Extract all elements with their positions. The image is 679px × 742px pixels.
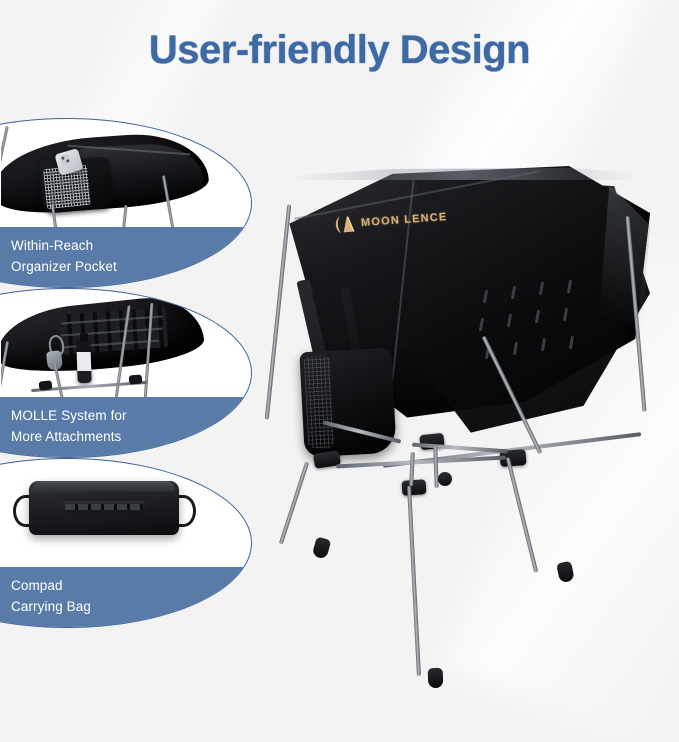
frame-hub xyxy=(39,380,53,390)
feature-caption-organizer-pocket: Within-Reach Organizer Pocket xyxy=(11,235,117,277)
feature-ellipse-frame: MOLLE System for More Attachments xyxy=(0,288,252,458)
feature-photo-molle-system xyxy=(1,289,252,401)
feature-card-molle-system: MOLLE System for More Attachments xyxy=(0,288,252,458)
feature-card-organizer-pocket: Within-Reach Organizer Pocket xyxy=(0,118,252,288)
bag-lid xyxy=(33,481,175,492)
bag-strap-stitching xyxy=(65,504,143,510)
caption-line-2: More Attachments xyxy=(11,426,127,447)
frame-pole-left-back xyxy=(265,204,292,419)
mesh-panel xyxy=(304,355,335,448)
moon-lence-mark-icon xyxy=(334,214,357,233)
frame-leg-rear-right xyxy=(506,457,538,572)
frame-hub xyxy=(129,375,143,385)
frame-leg-front-left xyxy=(279,461,309,544)
page-title: User-friendly Design xyxy=(0,28,679,73)
feature-photo-organizer-pocket xyxy=(1,119,252,231)
chair-foot-rear-hidden xyxy=(438,472,452,486)
frame-crossbar-front xyxy=(336,456,506,469)
frame-leg-front-center xyxy=(407,486,421,676)
water-bottle xyxy=(76,341,91,383)
caption-line-2: Carrying Bag xyxy=(11,596,91,617)
feature-caption-molle-system: MOLLE System for More Attachments xyxy=(11,405,127,447)
caption-line-1: MOLLE System for xyxy=(11,405,127,426)
feature-ellipse-frame: Compad Carrying Bag xyxy=(0,458,252,628)
hero-product-photo: MOON LENCE xyxy=(262,160,679,663)
feature-photo-carrying-bag xyxy=(1,459,252,571)
chair-top-rim xyxy=(286,168,642,180)
chair-foot xyxy=(312,536,332,559)
feature-card-carrying-bag: Compad Carrying Bag xyxy=(0,458,252,628)
chair-foot xyxy=(428,668,444,689)
caption-line-1: Compad xyxy=(11,575,91,596)
caption-line-2: Organizer Pocket xyxy=(11,256,117,277)
frame-hub-front xyxy=(402,479,427,496)
brand-logo-text: MOON LENCE xyxy=(361,211,448,229)
feature-caption-carrying-bag: Compad Carrying Bag xyxy=(11,575,91,617)
feature-ellipse-frame: Within-Reach Organizer Pocket xyxy=(0,118,252,288)
caption-line-1: Within-Reach xyxy=(11,235,117,256)
chair-foot xyxy=(556,561,575,584)
